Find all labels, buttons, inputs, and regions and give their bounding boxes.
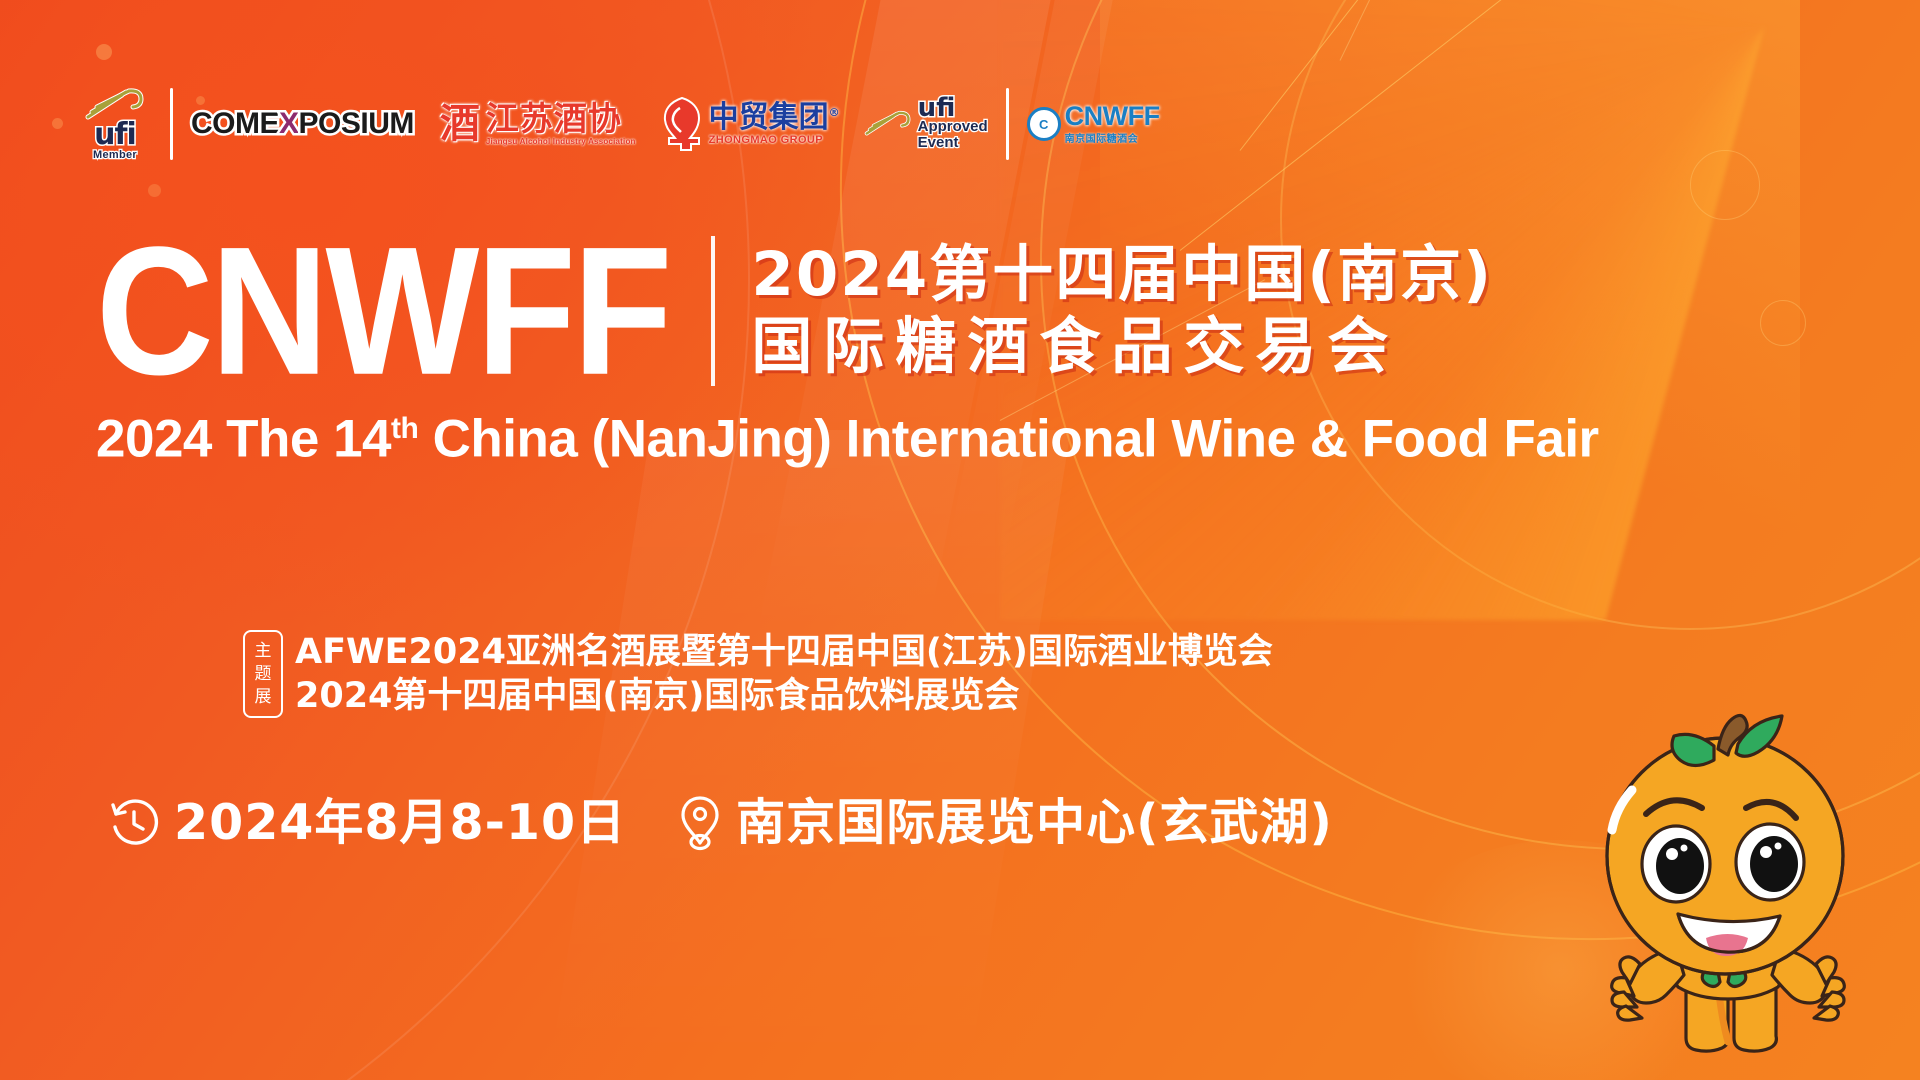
theme-exhibition-line-1: AFWE2024亚洲名酒展暨第十四届中国(江苏)国际酒业博览会 [295,630,1273,674]
partner-logo-strip: ufi Member COMEXPOSIUM 酒 江苏酒协 Jiangsu Al… [78,78,1160,170]
event-date-item: 2024年8月8-10日 [108,795,626,851]
theme-exhibition-line-2: 2024第十四届中国(南京)国际食品饮料展览会 [295,674,1273,718]
theme-exhibition-block: 主 题 展 AFWE2024亚洲名酒展暨第十四届中国(江苏)国际酒业博览会 20… [243,630,1273,718]
decorative-ring-2 [1760,300,1806,346]
comexposium-x: X [279,107,299,141]
comexposium-logo: COMEXPOSIUM [191,78,414,170]
chinese-title: 2024第十四届中国(南京) 国际糖酒食品交易会 [751,239,1493,383]
comexposium-part2: POSIUM [299,107,414,141]
event-venue-text: 南京国际展览中心(玄武湖) [736,795,1333,851]
mascot-illustration [1568,686,1898,1080]
decorative-line-2 [1240,0,1462,151]
decorative-line-1 [1180,0,1512,251]
decorative-ring-1 [1690,150,1760,220]
event-info-row: 2024年8月8-10日 南京国际展览中心(玄武湖) [108,795,1333,851]
theme-exhibition-lines: AFWE2024亚洲名酒展暨第十四届中国(江苏)国际酒业博览会 2024第十四届… [295,630,1273,718]
ufi-member-label: Member [93,149,137,161]
theme-exhibition-badge: 主 题 展 [243,630,283,718]
jiangsu-en-name: Jiangsu Alcohol Industry Association [486,137,636,146]
english-title-ordinal: th [391,412,418,445]
english-title-after: China (NanJing) International Wine & Foo… [418,410,1598,469]
jiangsu-cn-name: 江苏酒协 [486,102,636,137]
cnwff-badge-circle-icon: C [1027,107,1061,141]
logo-divider-2 [1006,88,1009,160]
event-date-text: 2024年8月8-10日 [174,795,626,851]
main-title-row: CNWFF 2024第十四届中国(南京) 国际糖酒食品交易会 [96,236,1493,386]
promotional-banner: ufi Member COMEXPOSIUM 酒 江苏酒协 Jiangsu Al… [0,0,1920,1080]
english-title-before: 2024 The 14 [96,410,391,469]
decorative-dot-1 [96,44,112,60]
decorative-dot-4 [148,184,161,197]
comexposium-part1: COME [191,107,279,141]
theme-badge-char-2: 题 [255,663,272,686]
cnwff-badge-cn-name: 南京国际糖酒会 [1065,130,1160,145]
location-pin-icon [678,795,722,851]
ufi-approved-line2: Event [918,135,959,151]
logo-divider-1 [170,88,173,160]
ufi-approved-wordmark: ufi [918,97,956,119]
ufi-wordmark: ufi [94,122,136,148]
english-title: 2024 The 14th China (NanJing) Internatio… [96,400,1599,469]
decorative-line-4 [1340,0,1472,61]
cnwff-badge-wordmark: CNWFF [1065,103,1160,131]
title-divider [711,236,715,386]
chinese-title-line2: 国际糖酒食品交易会 [751,311,1493,383]
jiangsu-seal-glyph: 酒 [440,104,480,144]
decorative-dot-2 [52,118,63,129]
clock-icon [108,797,160,849]
page-title-acronym: CNWFF [96,227,669,395]
zhongmao-group-logo: 中贸集团® ZHONGMAO GROUP [660,78,840,170]
zhongmao-en-name: ZHONGMAO GROUP [709,134,840,146]
event-venue-item: 南京国际展览中心(玄武湖) [678,795,1333,851]
orange-mascot-character [1568,686,1898,1080]
theme-badge-char-1: 主 [255,640,272,663]
ufi-approved-line1: Approved [918,119,988,135]
zhongmao-cn-name: 中贸集团® [709,102,840,134]
decorative-slash-3 [549,430,1070,1070]
chinese-title-line1: 2024第十四届中国(南京) [751,239,1493,311]
ufi-member-logo: ufi Member [78,78,152,170]
jiangsu-alcohol-industry-association-logo: 酒 江苏酒协 Jiangsu Alcohol Industry Associat… [440,78,636,170]
ufi-approved-bird-icon [862,109,914,139]
theme-badge-char-3: 展 [255,686,272,709]
zhongmao-emblem-icon [660,96,704,152]
cnwff-badge-logo: C CNWFF 南京国际糖酒会 [1027,78,1160,170]
ufi-approved-event-logo: ufi Approved Event [862,78,988,170]
